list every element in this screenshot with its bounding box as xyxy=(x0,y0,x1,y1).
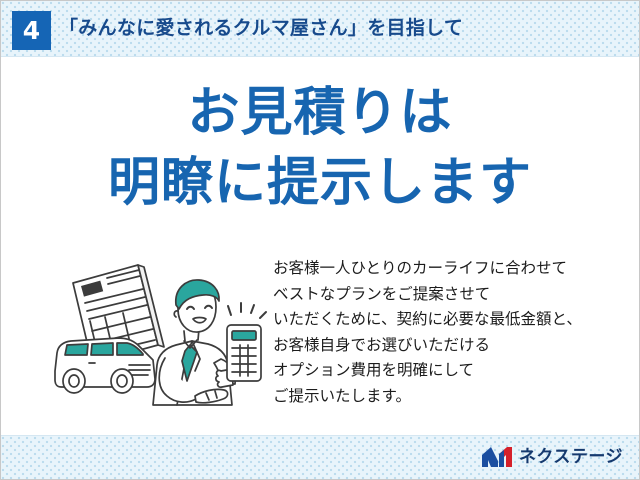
calculator-icon xyxy=(227,325,261,381)
main-content: お見積りは 明瞭に提示します お客様一人ひとりのカーライフに合わせて ベストなプ… xyxy=(1,57,639,435)
body-line: いただくために、契約に必要な最低金額と、 xyxy=(273,307,582,333)
illustration-svg xyxy=(45,253,273,423)
nextage-logo: ネクステージ xyxy=(482,444,623,470)
salesman-figure xyxy=(153,280,235,405)
body-line: ベストなプランをご提案させて xyxy=(273,282,582,308)
body-line: お客様自身でお選びいただける xyxy=(273,333,582,359)
sparkle-icon xyxy=(228,303,266,318)
header-band: 4 「みんなに愛されるクルマ屋さん」を目指して xyxy=(1,1,639,57)
body-line: ご提示いたします。 xyxy=(273,384,582,410)
headline-line-2: 明瞭に提示します xyxy=(1,157,639,209)
illustration xyxy=(45,253,273,423)
nextage-n-logo-icon xyxy=(482,446,512,468)
promo-banner: 4 「みんなに愛されるクルマ屋さん」を目指して お見積りは 明瞭に提示します お… xyxy=(0,0,640,480)
body-line: オプション費用を明確にして xyxy=(273,358,582,384)
body-line: お客様一人ひとりのカーライフに合わせて xyxy=(273,256,582,282)
nextage-logo-text: ネクステージ xyxy=(519,449,623,466)
header-title: 「みんなに愛されるクルマ屋さん」を目指して xyxy=(59,1,463,56)
body-copy: お客様一人ひとりのカーライフに合わせて ベストなプランをご提案させて いただくた… xyxy=(273,256,582,409)
van-icon xyxy=(55,338,155,393)
step-number-badge: 4 xyxy=(12,11,51,50)
footer-band: ネクステージ xyxy=(1,435,639,479)
headline-line-1: お見積りは xyxy=(1,87,639,139)
